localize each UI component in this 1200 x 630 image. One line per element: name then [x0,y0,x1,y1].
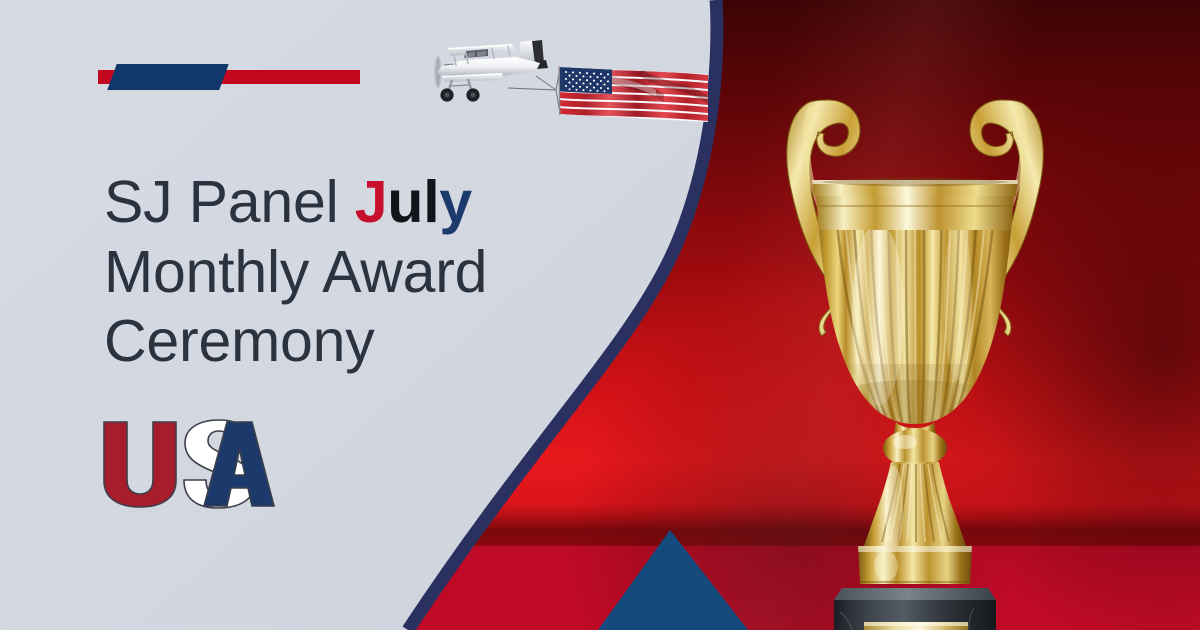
biplane-towing-flag-banner-icon [424,24,708,142]
headline-line-1: SJ Panel July [104,168,624,238]
biplane-icon [434,40,548,102]
headline-accent-ul: ul [387,169,439,235]
trophy-bowl [805,178,1025,449]
usa-flag-banner-icon [554,62,708,124]
headline-line-1-plain: SJ Panel [104,169,355,235]
trophy-stem [858,422,972,584]
headline-line-3: Ceremony [104,307,624,377]
flag-stripe-bar-icon [98,64,360,90]
bar-navy-parallelogram [107,64,228,90]
trophy-base [834,588,996,630]
award-ceremony-banner: SJ Panel July Monthly Award Ceremony [0,0,1200,630]
usa-letter-u [104,422,176,507]
gold-trophy-icon [760,84,1090,630]
headline-line-2: Monthly Award [104,238,624,308]
headline-accent-j: J [355,169,388,235]
headline-accent-y: y [439,169,472,235]
page-title: SJ Panel July Monthly Award Ceremony [104,168,624,377]
usa-wordmark [100,418,280,510]
